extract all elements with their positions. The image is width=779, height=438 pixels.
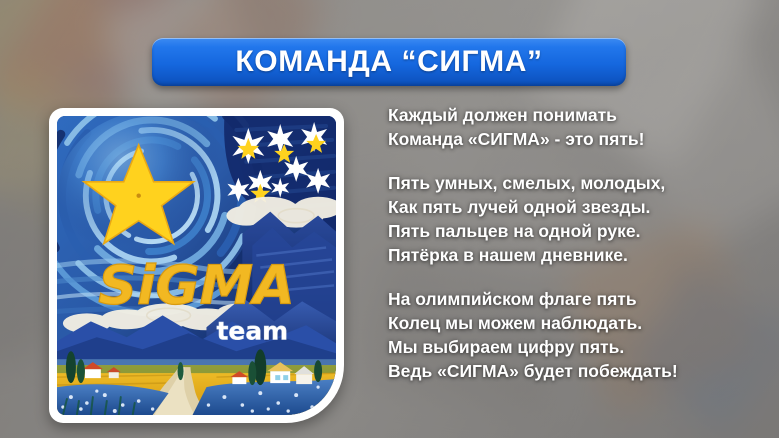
team-logo-card: SiGMA team: [49, 108, 344, 423]
slide-title: КОМАНДА “СИГМА”: [235, 47, 542, 77]
poem-block: Каждый должен понимать Команда «СИГМА» -…: [388, 103, 776, 383]
poem-stanza: На олимпийском флаге пять Колец мы можем…: [388, 287, 776, 383]
poem-line: Ведь «СИГМА» будет побеждать!: [388, 359, 776, 383]
poem-line: На олимпийском флаге пять: [388, 287, 776, 311]
poem-line: Пятёрка в нашем дневнике.: [388, 243, 776, 267]
poem-line: Мы выбираем цифру пять.: [388, 335, 776, 359]
presentation-slide: КОМАНДА “СИГМА”: [0, 0, 779, 438]
poem-line: Команда «СИГМА» - это пять!: [388, 127, 776, 151]
poem-line: Как пять лучей одной звезды.: [388, 195, 776, 219]
title-banner: КОМАНДА “СИГМА”: [152, 38, 626, 86]
starry-night-illustration: SiGMA team: [57, 116, 336, 415]
poem-stanza: Каждый должен понимать Команда «СИГМА» -…: [388, 103, 776, 151]
poem-line: Пять пальцев на одной руке.: [388, 219, 776, 243]
poem-line: Каждый должен понимать: [388, 103, 776, 127]
team-logo-artwork: SiGMA team: [57, 116, 336, 415]
logo-subtext: team: [217, 316, 289, 345]
poem-line: Колец мы можем наблюдать.: [388, 311, 776, 335]
poem-stanza: Пять умных, смелых, молодых, Как пять лу…: [388, 171, 776, 267]
poem-line: Пять умных, смелых, молодых,: [388, 171, 776, 195]
logo-wordmark: SiGMA: [98, 253, 295, 316]
